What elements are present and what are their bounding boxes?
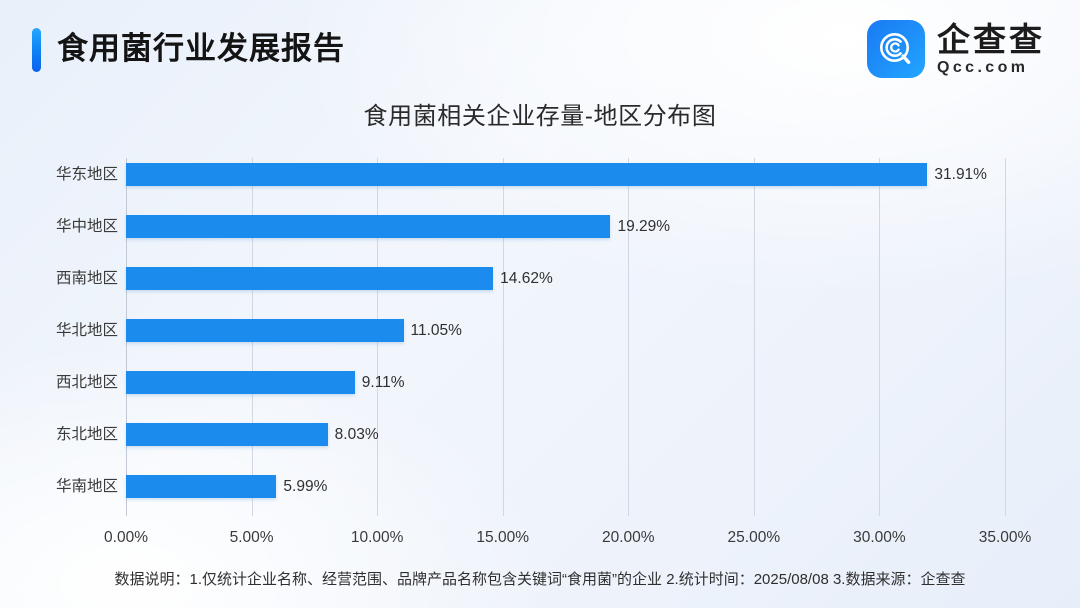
plot-area: 31.91%19.29%14.62%11.05%9.11%8.03%5.99% xyxy=(126,158,1005,516)
x-tick-label: 5.00% xyxy=(230,526,274,550)
gridline-35.00% xyxy=(1005,158,1006,516)
chart-title: 食用菌相关企业存量-地区分布图 xyxy=(0,100,1080,134)
title-accent-bar xyxy=(32,28,41,72)
y-axis-label-华南地区: 华南地区 xyxy=(0,475,118,498)
page-header: 食用菌行业发展报告 企查查 Qcc.com xyxy=(0,0,1080,92)
bar-value-label: 9.11% xyxy=(362,371,405,394)
brand-name-en: Qcc.com xyxy=(937,59,1045,76)
y-axis-label-华北地区: 华北地区 xyxy=(0,319,118,342)
brand-logo: 企查查 Qcc.com xyxy=(867,20,1045,78)
bar[interactable] xyxy=(126,423,328,446)
x-axis-tick-labels: 0.00%5.00%10.00%15.00%20.00%25.00%30.00%… xyxy=(126,526,1005,556)
x-tick-label: 15.00% xyxy=(476,526,529,550)
x-tick-label: 35.00% xyxy=(979,526,1032,550)
y-axis-label-西南地区: 西南地区 xyxy=(0,267,118,290)
x-tick-label: 20.00% xyxy=(602,526,655,550)
bar-row[interactable]: 9.11% xyxy=(126,371,1005,394)
bar[interactable] xyxy=(126,163,927,186)
qcc-logo-icon xyxy=(867,20,925,78)
bar[interactable] xyxy=(126,475,276,498)
bar[interactable] xyxy=(126,319,404,342)
y-axis-category-labels: 华东地区华中地区西南地区华北地区西北地区东北地区华南地区 xyxy=(0,158,118,516)
bar-row[interactable]: 5.99% xyxy=(126,475,1005,498)
y-axis-label-东北地区: 东北地区 xyxy=(0,423,118,446)
page-title: 食用菌行业发展报告 xyxy=(57,27,345,71)
y-axis-label-华中地区: 华中地区 xyxy=(0,215,118,238)
y-axis-label-西北地区: 西北地区 xyxy=(0,371,118,394)
x-tick-label: 30.00% xyxy=(853,526,906,550)
x-tick-label: 10.00% xyxy=(351,526,404,550)
brand-name-cn: 企查查 xyxy=(937,23,1045,57)
bar-value-label: 5.99% xyxy=(283,475,327,498)
bar[interactable] xyxy=(126,371,355,394)
bar-row[interactable]: 31.91% xyxy=(126,163,1005,186)
bar-row[interactable]: 14.62% xyxy=(126,267,1005,290)
bar-value-label: 31.91% xyxy=(934,163,987,186)
bar-row[interactable]: 8.03% xyxy=(126,423,1005,446)
x-tick-label: 25.00% xyxy=(728,526,781,550)
bar-value-label: 14.62% xyxy=(500,267,553,290)
bar-series: 31.91%19.29%14.62%11.05%9.11%8.03%5.99% xyxy=(126,158,1005,516)
x-tick-label: 0.00% xyxy=(104,526,148,550)
y-axis-label-华东地区: 华东地区 xyxy=(0,163,118,186)
bar-value-label: 11.05% xyxy=(411,319,462,342)
bar[interactable] xyxy=(126,215,610,238)
bar-value-label: 19.29% xyxy=(617,215,670,238)
region-distribution-bar-chart: 华东地区华中地区西南地区华北地区西北地区东北地区华南地区 31.91%19.29… xyxy=(0,150,1080,550)
bar-value-label: 8.03% xyxy=(335,423,379,446)
bar-row[interactable]: 19.29% xyxy=(126,215,1005,238)
bar[interactable] xyxy=(126,267,493,290)
data-source-note: 数据说明：1.仅统计企业名称、经营范围、品牌产品名称包含关键词“食用菌”的企业 … xyxy=(0,569,1080,591)
brand-text: 企查查 Qcc.com xyxy=(937,23,1045,76)
bar-row[interactable]: 11.05% xyxy=(126,319,1005,342)
